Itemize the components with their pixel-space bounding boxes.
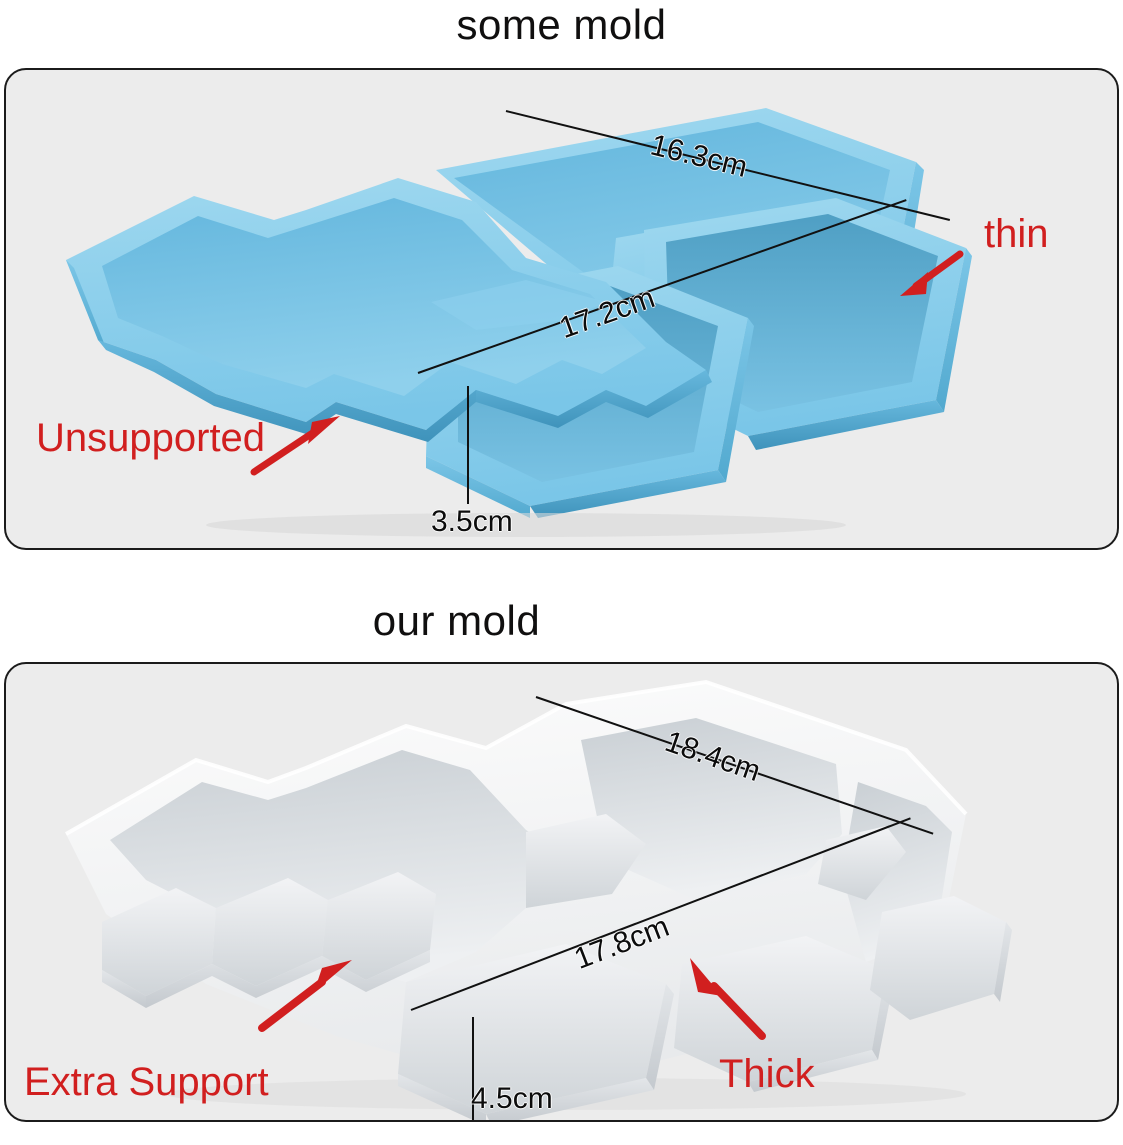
panel-some-mold: 16.3cm 17.2cm 3.5cm thin Unsupported — [4, 68, 1119, 550]
white-mold-illustration — [6, 664, 1117, 1120]
annotation-thick: Thick — [719, 1054, 815, 1094]
dimension-line-3-5cm — [467, 386, 469, 504]
annotation-unsupported: Unsupported — [36, 418, 265, 458]
extra-support-arrow-icon — [256, 954, 366, 1034]
section-title-our-mold: our mold — [0, 600, 1018, 642]
dimension-label-4-5cm: 4.5cm — [471, 1082, 553, 1116]
thick-arrow-icon — [666, 952, 776, 1042]
annotation-thin: thin — [984, 214, 1049, 254]
comparison-page: some mold — [0, 0, 1123, 1145]
dimension-label-3-5cm: 3.5cm — [431, 505, 513, 539]
annotation-extra-support: Extra Support — [24, 1062, 269, 1102]
panel-our-mold: 18.4cm 17.8cm 4.5cm Extra Support Thick — [4, 662, 1119, 1122]
section-title-some-mold: some mold — [0, 4, 1123, 46]
thin-arrow-icon — [886, 248, 966, 308]
blue-mold-illustration — [6, 70, 1117, 548]
